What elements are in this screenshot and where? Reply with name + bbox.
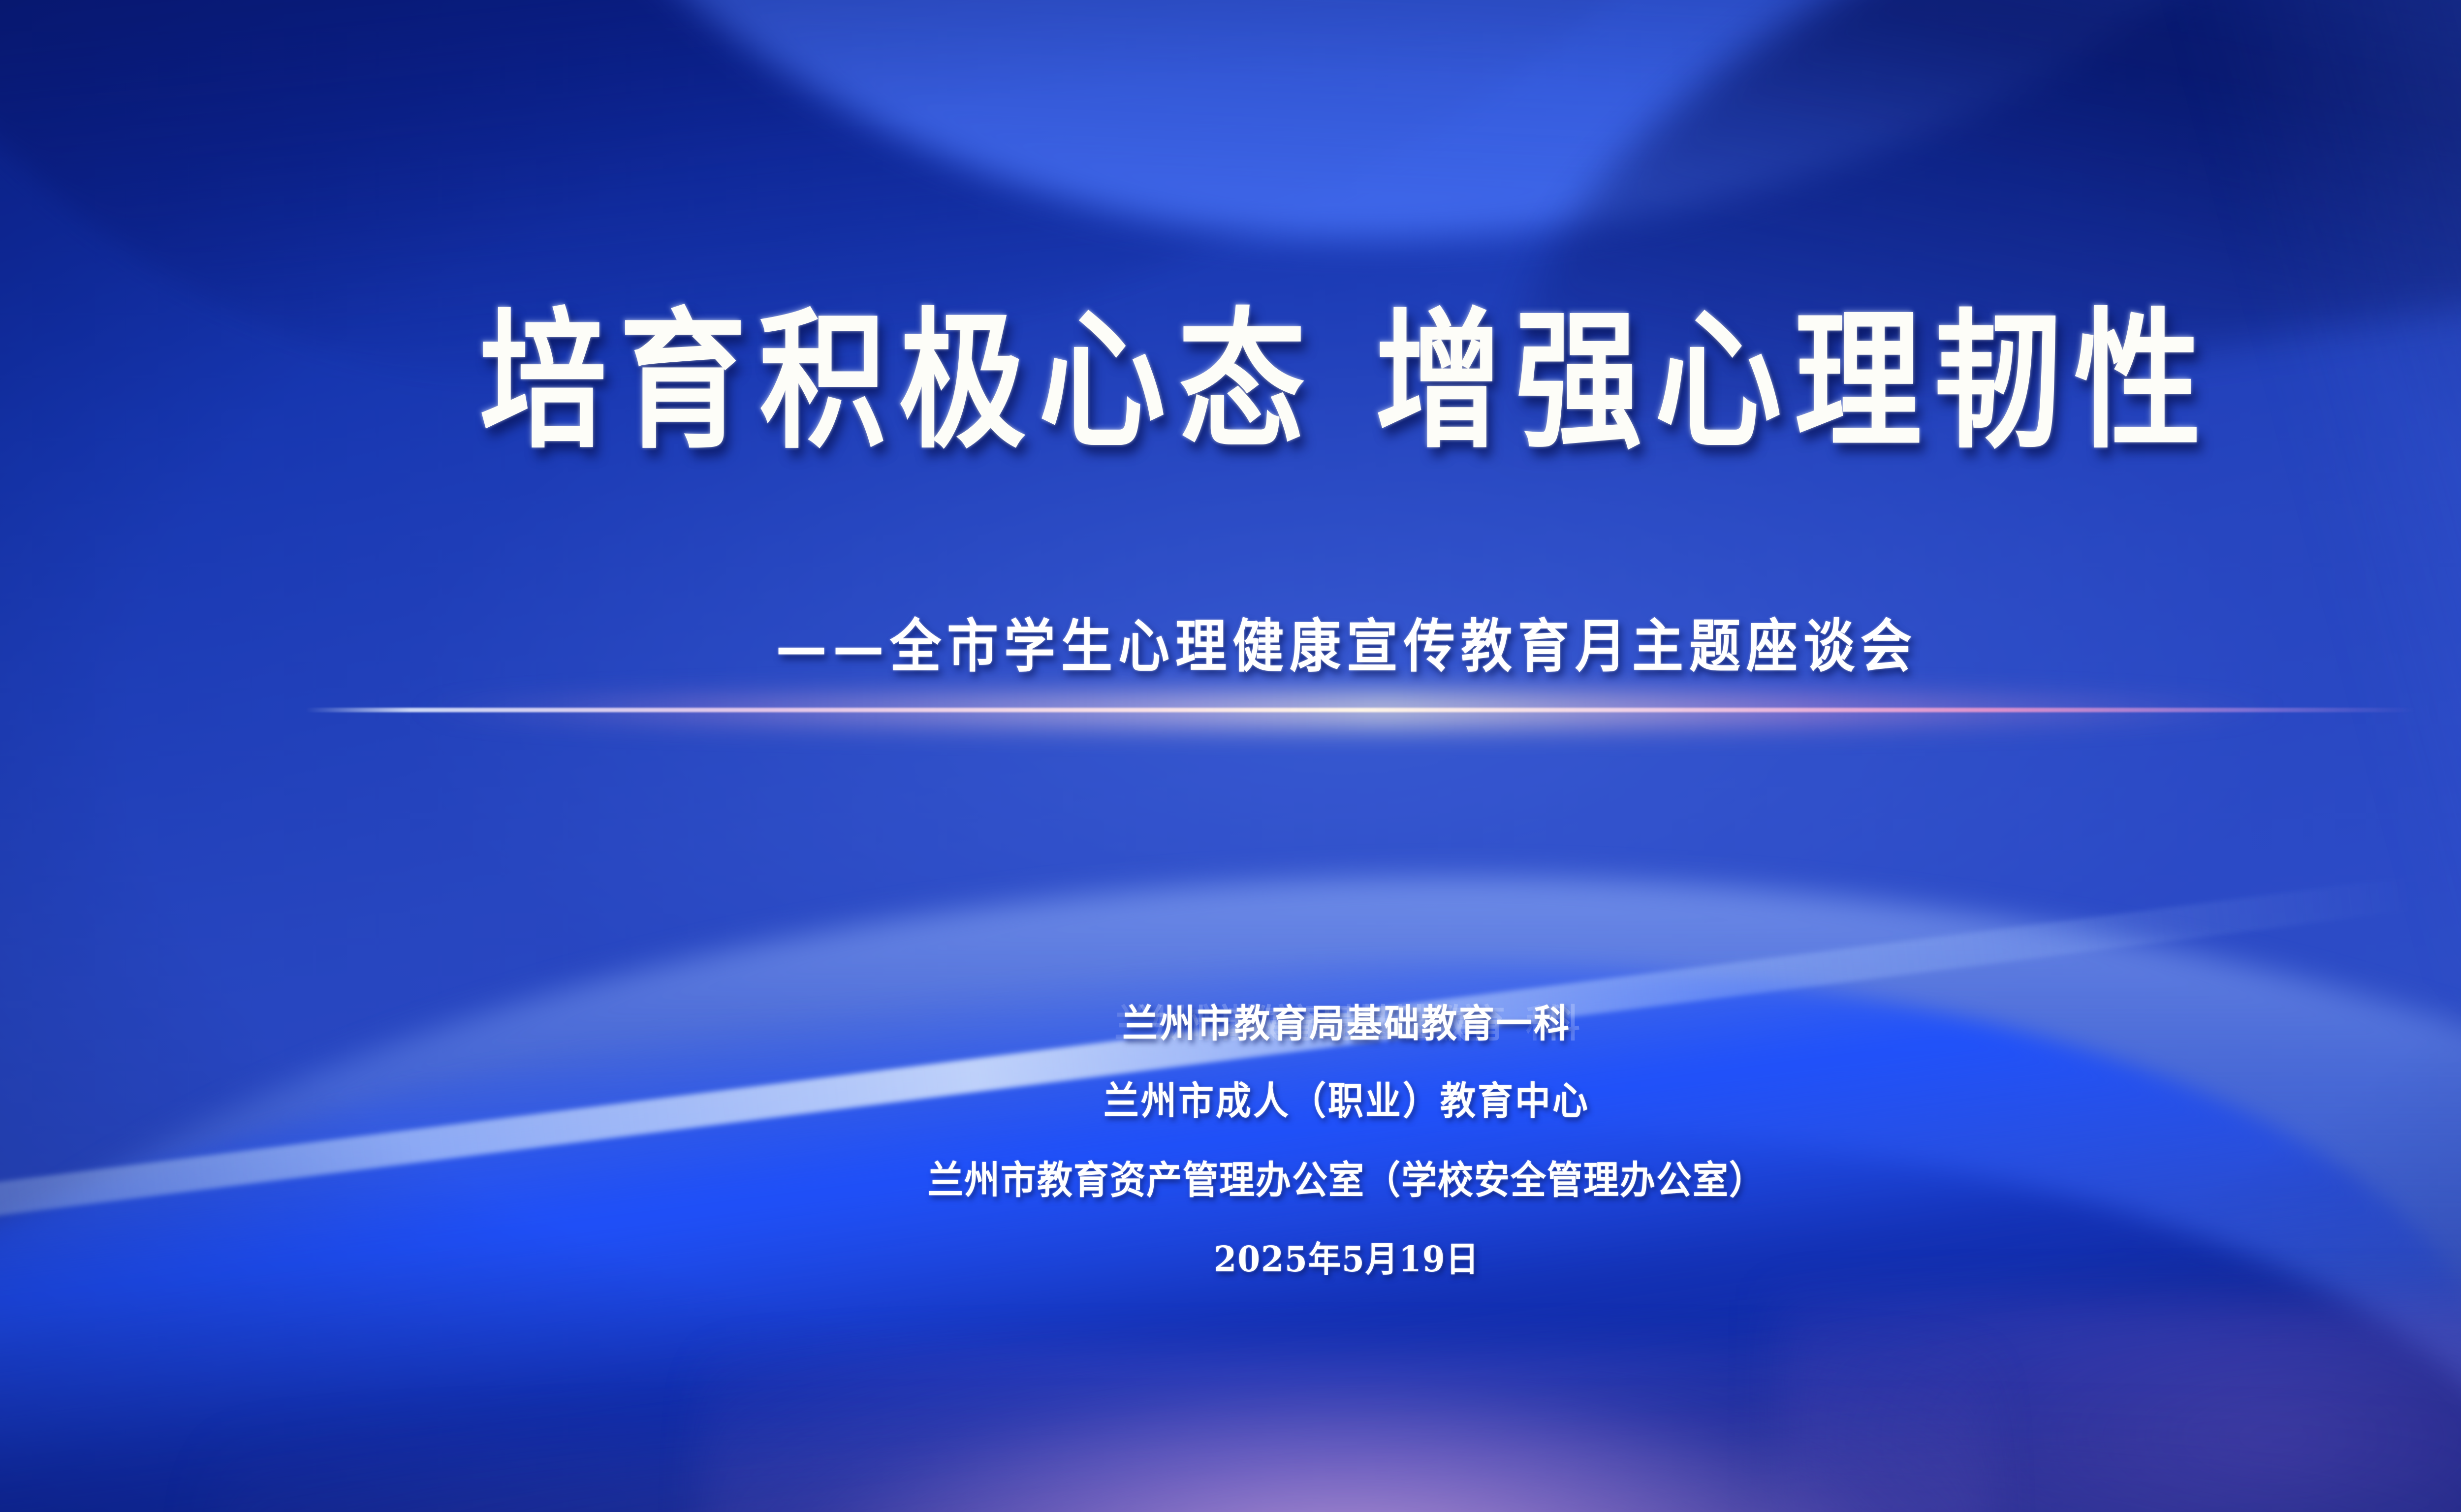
slide-content: 培育积极心态 增强心理韧性 ——全市学生心理健康宣传教育月主题座谈会 兰州市教育… [0, 0, 2461, 1512]
page-title: 培育积极心态 增强心理韧性 [0, 306, 2461, 456]
organizer-line-2: 兰州市成人（职业）教育中心 [0, 1070, 2461, 1125]
page-subtitle: ——全市学生心理健康宣传教育月主题座谈会 [0, 599, 2461, 683]
organizer-block: 兰州市教育局基础教育一科 兰州市成人（职业）教育中心 兰州市教育资产管理办公室（… [0, 994, 2461, 1280]
divider-line [305, 708, 2417, 712]
event-date: 2025年5月19日 [0, 1231, 2461, 1282]
conference-backdrop-slide: 培育积极心态 增强心理韧性 ——全市学生心理健康宣传教育月主题座谈会 兰州市教育… [0, 0, 2461, 1512]
organizer-line-3: 兰州市教育资产管理办公室（学校安全管理办公室） [0, 1149, 2461, 1204]
organizer-line-1: 兰州市教育局基础教育一科 [0, 992, 2461, 1048]
